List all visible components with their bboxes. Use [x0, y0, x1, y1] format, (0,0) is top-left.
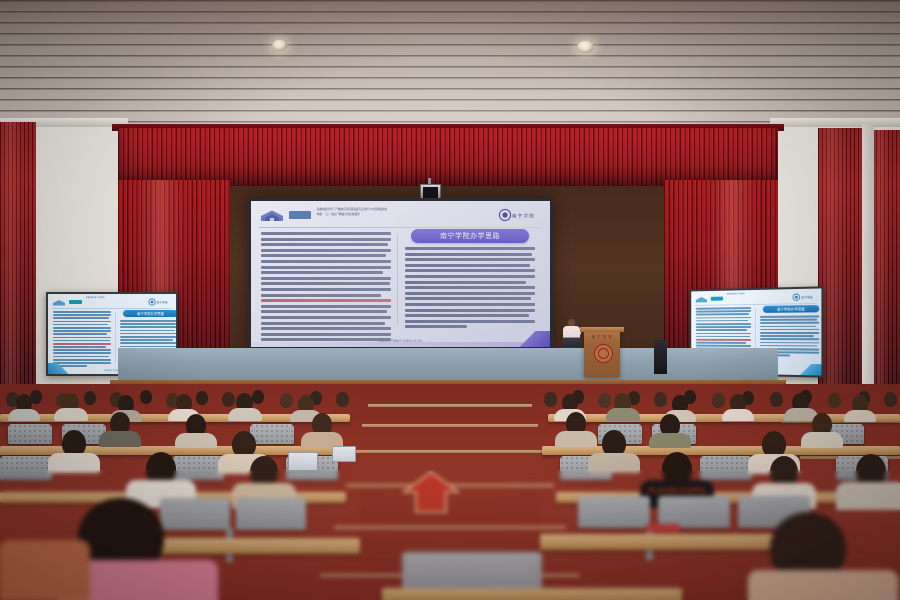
text-line — [405, 297, 531, 300]
text-line — [261, 294, 381, 297]
text-line — [53, 340, 110, 342]
university-seal-icon: 南宁学院 — [148, 298, 172, 306]
text-line — [405, 314, 529, 317]
building-logo-icon — [52, 299, 66, 306]
text-line — [53, 352, 111, 354]
text-line — [261, 243, 388, 246]
text-line — [53, 359, 111, 361]
audience-desk — [150, 538, 360, 554]
auditorium-photo: 职教融通背景下产教融合高质量发展与应用型人才培养模式的 构建 （三）职业产教融合… — [0, 0, 900, 600]
curtain-highlight — [0, 122, 36, 392]
desk-item-phone — [646, 524, 680, 532]
text-line — [696, 345, 751, 347]
text-line — [261, 232, 391, 235]
slide-header-line2: 构建 （三）职业产教融合的实施路径 — [317, 212, 496, 217]
text-line — [696, 310, 751, 312]
text-line — [53, 349, 111, 351]
side-curtain-bay-left — [0, 122, 36, 392]
text-line — [120, 323, 176, 325]
text-line — [405, 320, 535, 323]
side-curtain-bay-right — [818, 128, 864, 390]
monitor-corner-accent — [794, 364, 821, 376]
university-seal-icon: 南 宁 学 院 — [498, 208, 542, 222]
downlight-icon — [272, 40, 287, 51]
slide-corner-accent — [510, 331, 550, 347]
side-curtain-bay-far-right — [872, 130, 900, 388]
text-line — [261, 249, 391, 252]
monitor-header-text: 职教融通背景下产教融合 — [86, 297, 146, 300]
text-line — [261, 277, 391, 280]
audience-row: PLAYER KAPPA — [556, 452, 900, 496]
svg-text:南 宁 学 院: 南 宁 学 院 — [512, 212, 534, 219]
podium-top — [580, 327, 624, 332]
step-nosing — [355, 450, 545, 453]
text-line — [53, 337, 111, 339]
monitor-divider — [52, 308, 172, 309]
header-accent-bar — [69, 300, 82, 304]
audience-row — [0, 452, 360, 496]
step-nosing — [362, 424, 538, 427]
text-line — [261, 254, 386, 257]
text-line — [696, 307, 751, 309]
text-line — [53, 314, 111, 316]
header-accent-bar — [711, 297, 723, 301]
text-line — [53, 327, 111, 329]
text-line — [261, 266, 391, 269]
slide-header: 职教融通背景下产教融合高质量发展与应用型人才培养模式的 构建 （三）职业产教融合… — [259, 206, 542, 226]
text-line — [261, 333, 391, 336]
audience-seat — [236, 498, 306, 530]
text-line — [261, 260, 391, 263]
text-line — [405, 269, 535, 272]
text-line — [696, 320, 748, 322]
text-line — [120, 336, 176, 338]
university-seal-icon: 南宁学院 — [792, 293, 817, 302]
slide-title-pill: 南宁学院办学思路 — [411, 229, 529, 243]
text-line — [405, 264, 530, 267]
text-line — [53, 330, 111, 332]
jacket-graphic-text: PLAYER KAPPA — [642, 488, 712, 495]
text-line — [405, 309, 535, 312]
stage-valance — [118, 128, 778, 186]
audience-seat — [160, 498, 230, 530]
stage-floor — [118, 348, 778, 384]
slide-column-divider — [397, 234, 398, 325]
curtain-highlight — [818, 128, 864, 390]
wall-cornice — [770, 118, 900, 127]
text-line — [261, 316, 391, 319]
text-line — [696, 317, 751, 319]
text-line — [261, 310, 387, 313]
right-wall-pillar — [862, 124, 874, 390]
text-line — [53, 343, 111, 345]
text-line — [405, 303, 535, 306]
text-line — [405, 258, 535, 261]
audience-seat — [578, 496, 650, 528]
podium-banner-text: 南 宁 学 院 — [586, 334, 618, 339]
text-line — [760, 319, 818, 321]
podium-seal-icon — [594, 344, 613, 363]
text-line — [405, 253, 532, 256]
text-line — [261, 305, 391, 308]
monitor-title-pill: 南宁学院办学思路 — [123, 310, 176, 317]
audience-torso — [748, 570, 898, 600]
monitor-title-text: 南宁学院办学思路 — [763, 305, 819, 313]
text-line — [760, 342, 819, 344]
downlight-icon — [577, 41, 594, 53]
monitor-left-column — [53, 311, 111, 365]
text-line — [120, 333, 176, 335]
text-line — [696, 332, 751, 334]
text-line — [760, 332, 819, 334]
audience-desk — [382, 588, 682, 600]
curtain-highlight — [872, 130, 900, 388]
slide-left-column — [261, 232, 391, 329]
text-line — [760, 345, 817, 347]
slide-base-strip — [251, 342, 550, 347]
text-line — [120, 320, 176, 322]
svg-text:南宁学院: 南宁学院 — [157, 301, 168, 305]
header-accent-bar — [289, 211, 311, 219]
text-line — [405, 325, 467, 328]
text-line — [261, 322, 385, 325]
svg-text:南宁学院: 南宁学院 — [801, 295, 813, 299]
stage-loudspeaker — [654, 340, 667, 374]
text-line — [261, 282, 390, 285]
text-line — [53, 321, 111, 323]
floor-direction-arrow-icon — [400, 470, 462, 514]
text-line — [696, 329, 747, 331]
step-nosing — [368, 404, 532, 407]
text-line — [760, 315, 819, 317]
text-line — [120, 346, 176, 348]
text-line — [760, 338, 819, 340]
text-line — [53, 324, 108, 326]
monitor-title-text: 南宁学院办学思路 — [123, 310, 176, 317]
text-line — [696, 339, 751, 341]
text-line — [120, 339, 173, 341]
text-line — [53, 356, 109, 358]
audience-torso — [836, 482, 900, 510]
text-line — [53, 346, 106, 348]
monitor-header-text: 职教融通背景下产教融合 — [727, 292, 790, 296]
building-logo-icon — [259, 209, 285, 222]
audience-torso — [0, 540, 90, 600]
text-line — [696, 313, 749, 315]
text-line — [760, 329, 819, 331]
ceiling — [0, 0, 900, 132]
monitor-header: 职教融通背景下产教融合 南宁学院 — [52, 297, 172, 307]
text-line — [760, 335, 814, 337]
text-line — [405, 247, 535, 250]
text-line — [405, 281, 526, 284]
text-line — [760, 325, 816, 327]
slide-title-text: 南宁学院办学思路 — [411, 229, 529, 243]
text-line — [120, 342, 176, 344]
text-line — [53, 311, 111, 313]
text-line — [760, 322, 819, 324]
monitor-title-pill: 南宁学院办学思路 — [763, 305, 819, 313]
text-line — [261, 271, 383, 274]
monitor-header: 职教融通背景下产教融合 南宁学院 — [695, 292, 817, 304]
text-line — [696, 336, 750, 338]
presentation-slide: 职教融通背景下产教融合高质量发展与应用型人才培养模式的 构建 （三）职业产教融合… — [251, 201, 550, 347]
slide-divider — [259, 227, 542, 228]
step-nosing — [334, 526, 566, 529]
text-line — [405, 275, 535, 278]
text-line — [261, 288, 391, 291]
text-line — [696, 342, 746, 344]
text-line — [120, 326, 176, 328]
text-line — [696, 323, 751, 325]
text-line — [120, 330, 175, 332]
text-line — [696, 326, 751, 328]
text-line — [53, 333, 107, 335]
slide-right-column — [405, 247, 535, 329]
text-line — [261, 238, 391, 241]
text-line — [405, 292, 535, 295]
monitor-column-divider — [115, 312, 116, 363]
text-line — [261, 299, 391, 302]
projection-screen: 职教融通背景下产教融合高质量发展与应用型人才培养模式的 构建 （三）职业产教融合… — [248, 198, 553, 350]
monitor-corner-accent — [48, 363, 74, 374]
building-logo-icon — [695, 296, 708, 303]
text-line — [261, 327, 391, 330]
text-line — [405, 286, 535, 289]
text-line — [53, 317, 109, 319]
